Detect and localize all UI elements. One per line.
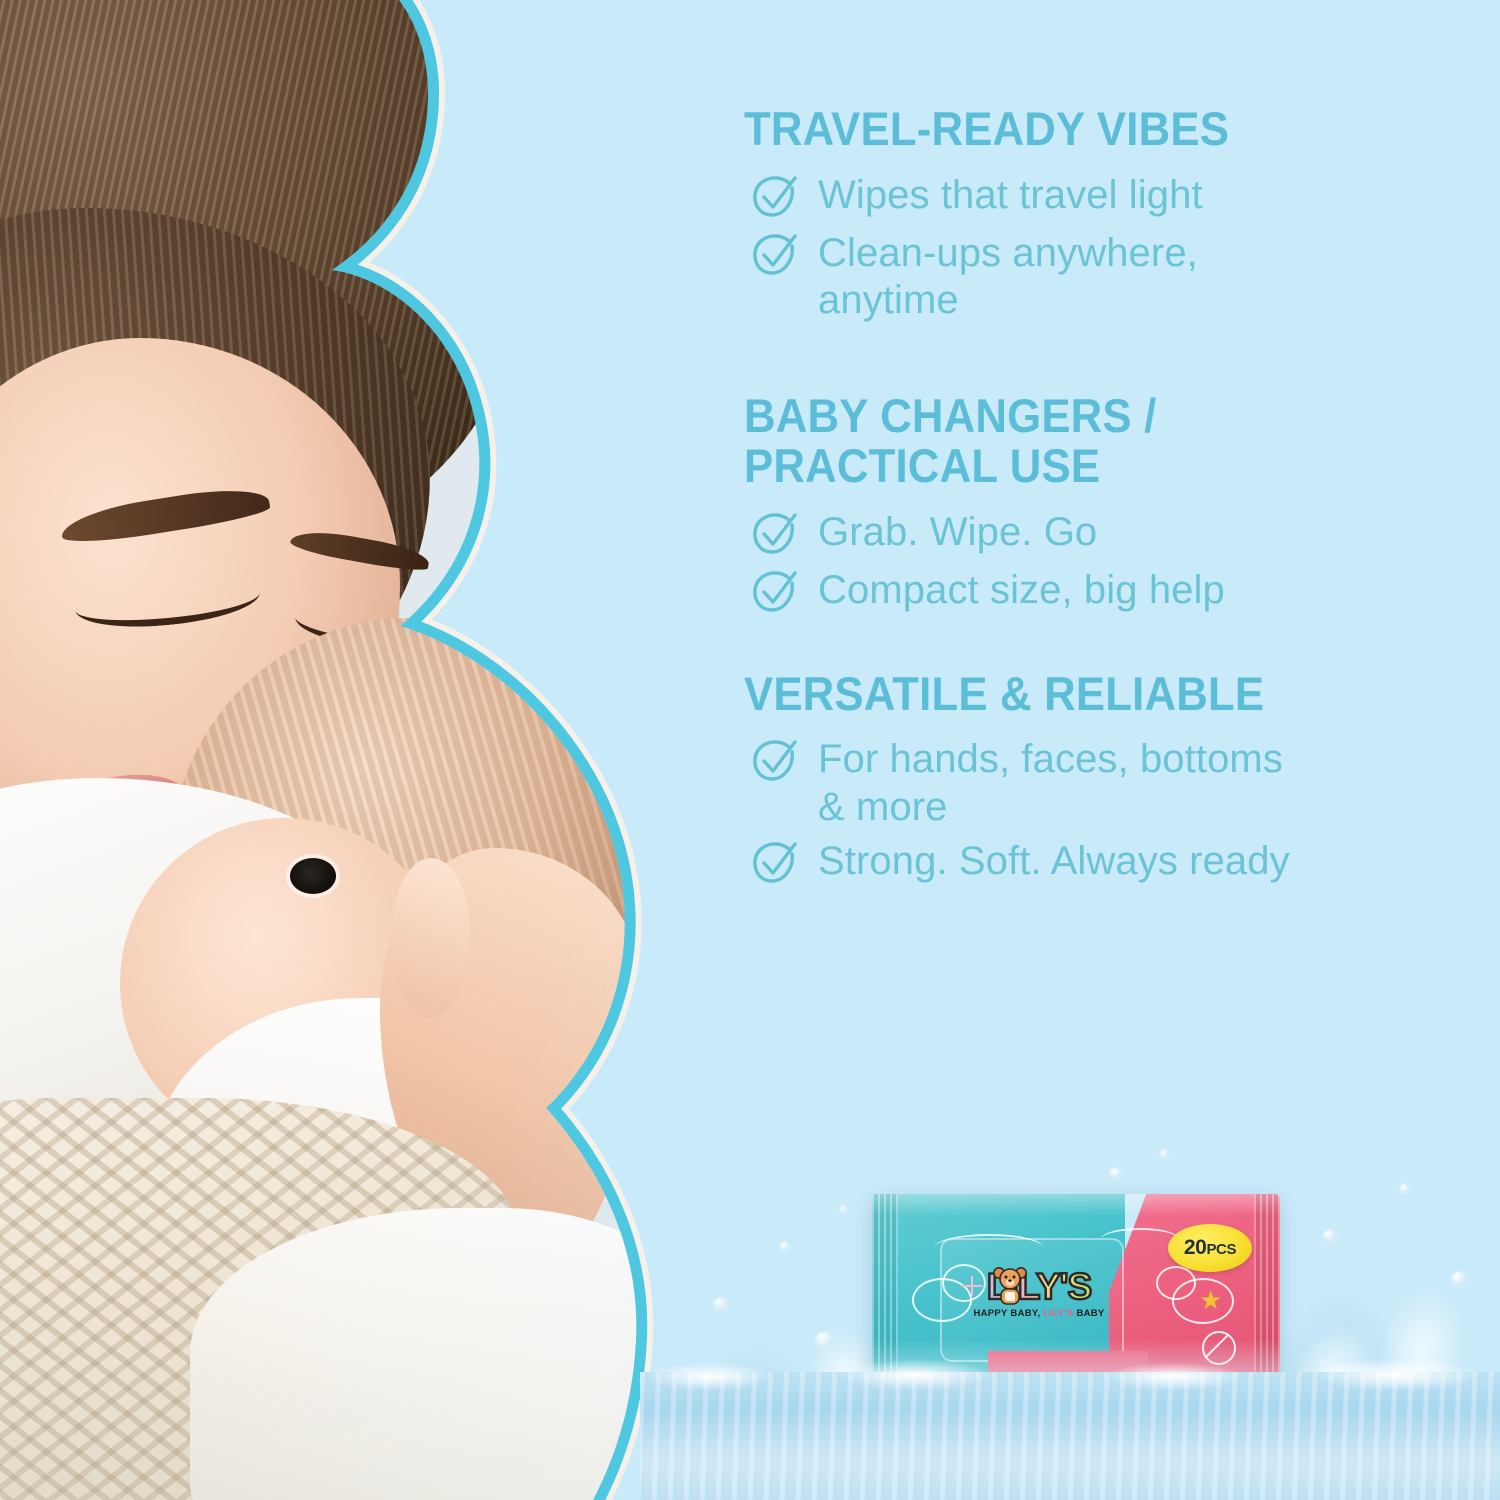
bullet-list: Grab. Wipe. Go Compact size, big help bbox=[744, 507, 1454, 619]
bullet-list: For hands, faces, bottoms & more Strong.… bbox=[744, 734, 1454, 889]
cloud-doodle-icon bbox=[1156, 1266, 1196, 1300]
tagline-brand: LILY'S bbox=[1043, 1308, 1073, 1319]
tagline-prefix: HAPPY BABY, bbox=[973, 1308, 1043, 1319]
section-versatile-reliable: VERSATILE & RELIABLE For hands, faces, b… bbox=[744, 669, 1454, 890]
section-travel-ready-vibes: TRAVEL-READY VIBES Wipes that travel lig… bbox=[744, 104, 1454, 325]
water-droplet bbox=[1110, 1168, 1121, 1179]
bullet-item: Clean-ups anywhere, anytime bbox=[744, 228, 1454, 325]
section-heading: TRAVEL-READY VIBES bbox=[744, 104, 1404, 154]
water-droplet bbox=[1324, 1230, 1336, 1242]
section-gap bbox=[744, 329, 1454, 391]
check-circle-icon bbox=[750, 838, 802, 890]
section-heading: VERSATILE & RELIABLE bbox=[744, 669, 1404, 719]
check-circle-icon bbox=[750, 509, 802, 561]
water-surface bbox=[640, 1372, 1500, 1500]
product-water-scene: LILY'S HAPPY BABY, LILY'S BABY 20PCS BAB… bbox=[640, 1122, 1500, 1500]
check-circle-icon bbox=[750, 172, 802, 224]
brand-logo: LILY'S HAPPY BABY, LILY'S BABY bbox=[964, 1268, 1114, 1319]
bullet-item: Compact size, big help bbox=[744, 565, 1454, 619]
count-badge: 20PCS bbox=[1168, 1224, 1252, 1272]
product-infographic: TRAVEL-READY VIBES Wipes that travel lig… bbox=[0, 0, 1500, 1500]
count-badge-number: 20 bbox=[1184, 1236, 1207, 1259]
bullet-text: Clean-ups anywhere, anytime bbox=[818, 228, 1198, 325]
bullet-item: Strong. Soft. Always ready bbox=[744, 836, 1454, 890]
bullet-text: Wipes that travel light bbox=[818, 170, 1203, 220]
bullet-item: For hands, faces, bottoms & more bbox=[744, 734, 1454, 831]
brand-name: LILY'S bbox=[964, 1268, 1114, 1305]
bullet-text: Strong. Soft. Always ready bbox=[818, 836, 1290, 886]
mother-and-baby-photo bbox=[0, 0, 720, 1500]
section-heading: BABY CHANGERS / PRACTICAL USE bbox=[744, 391, 1404, 491]
package-gloss bbox=[872, 1194, 1280, 1216]
bullet-text: For hands, faces, bottoms & more bbox=[818, 734, 1283, 831]
teddy-bear-icon bbox=[990, 1264, 1030, 1306]
water-droplet bbox=[1160, 1150, 1168, 1158]
count-badge-unit: PCS bbox=[1206, 1241, 1236, 1258]
water-droplet bbox=[1452, 1272, 1466, 1286]
check-circle-icon bbox=[750, 736, 802, 788]
water-droplet bbox=[780, 1242, 789, 1251]
water-droplet bbox=[840, 1206, 847, 1213]
section-gap bbox=[744, 623, 1454, 669]
bullet-item: Wipes that travel light bbox=[744, 170, 1454, 224]
bullet-text: Compact size, big help bbox=[818, 565, 1225, 615]
water-droplet bbox=[816, 1332, 832, 1348]
feature-copy-column: TRAVEL-READY VIBES Wipes that travel lig… bbox=[744, 104, 1454, 894]
brand-tagline: HAPPY BABY, LILY'S BABY bbox=[964, 1308, 1114, 1319]
bullet-list: Wipes that travel light Clean-ups anywhe… bbox=[744, 170, 1454, 325]
water-droplet bbox=[1400, 1184, 1409, 1193]
section-baby-changers-practical-use: BABY CHANGERS / PRACTICAL USE Grab. Wipe… bbox=[744, 391, 1454, 619]
check-circle-icon bbox=[750, 230, 802, 282]
bullet-item: Grab. Wipe. Go bbox=[744, 507, 1454, 561]
bullet-text: Grab. Wipe. Go bbox=[818, 507, 1097, 557]
check-circle-icon bbox=[750, 567, 802, 619]
tagline-suffix: BABY bbox=[1074, 1308, 1105, 1319]
water-droplet bbox=[714, 1298, 727, 1311]
